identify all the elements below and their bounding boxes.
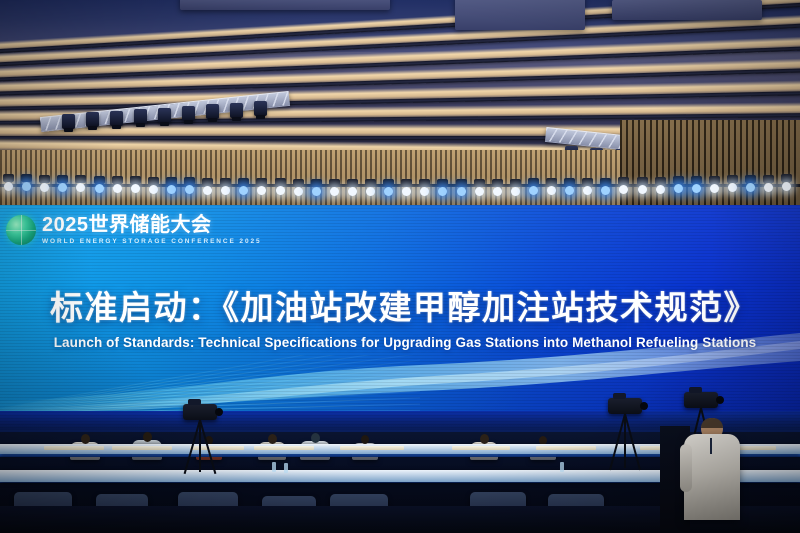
stage-light-blue [185, 185, 194, 194]
light-fixture-body [75, 175, 86, 183]
stage-light-white [619, 185, 628, 194]
audience-member-head [311, 433, 320, 443]
water-bottle [560, 462, 564, 472]
light-fixture-body [546, 178, 557, 186]
operator-shirt [684, 434, 740, 520]
stage-par-light [134, 109, 147, 124]
stage-light-blue [565, 186, 574, 195]
stage-light-white [420, 187, 429, 196]
stage-light-blue [95, 184, 104, 193]
light-fixture-body [673, 176, 684, 184]
light-fixture-body [275, 178, 286, 186]
desk-papers [340, 446, 404, 450]
light-fixture-body [655, 177, 666, 185]
light-fixture-body [3, 174, 14, 182]
desk-papers [112, 446, 172, 450]
desk-papers [44, 446, 104, 450]
operator-hair [701, 418, 723, 428]
light-fixture-body [347, 179, 358, 187]
stage-par-light [206, 104, 219, 119]
stage-light-blue [529, 186, 538, 195]
light-fixture-body [419, 179, 430, 187]
stage-light-white [583, 186, 592, 195]
audience-member-head [361, 435, 369, 444]
light-fixture-body [166, 177, 177, 185]
operator-lanyard [710, 438, 712, 454]
audience-member-head [268, 434, 277, 444]
stage-light-white [131, 184, 140, 193]
light-fixture-body [474, 179, 485, 187]
light-fixture-body [781, 174, 792, 182]
logo-title-cn: 2025世界储能大会 [42, 215, 262, 236]
stage-light-white [710, 184, 719, 193]
light-fixture-body [112, 176, 123, 184]
light-fixture-body [148, 177, 159, 185]
stage-light-white [782, 182, 791, 191]
light-fixture-body [238, 178, 249, 186]
operator-arm [680, 444, 692, 492]
light-fixture-body [202, 178, 213, 186]
stage-light-white [257, 186, 266, 195]
stage-light-blue [239, 186, 248, 195]
water-bottle [272, 462, 276, 472]
stage-light-blue [692, 184, 701, 193]
stage-light-white [76, 183, 85, 192]
light-fixture-body [727, 175, 738, 183]
stage-light-blue [674, 184, 683, 193]
stage-light-blue [438, 187, 447, 196]
stage-par-light [110, 111, 123, 126]
main-title-cn: 标准启动：《加油站改建甲醇加注站技术规范》 [50, 281, 760, 329]
light-fixture-body [383, 179, 394, 187]
video-camera [684, 392, 718, 408]
stage-light-white [475, 187, 484, 196]
light-fixture-body [220, 178, 231, 186]
stage-light-white [4, 182, 13, 191]
stage-par-light [182, 106, 195, 121]
light-fixture-body [691, 176, 702, 184]
light-fixture-body [709, 176, 720, 184]
stage-light-white [149, 185, 158, 194]
globe-icon [6, 215, 36, 245]
desk-papers [452, 446, 510, 450]
light-fixture-body [329, 179, 340, 187]
conference-hall-photo: 2025世界储能大会 WORLD ENERGY STORAGE CONFEREN… [0, 0, 800, 533]
light-fixture-body [492, 179, 503, 187]
light-fixture-body [618, 177, 629, 185]
light-fixture-body [582, 178, 593, 186]
stage-light-white [113, 184, 122, 193]
stage-light-white [348, 187, 357, 196]
light-fixture-body [600, 178, 611, 186]
light-fixture-body [456, 179, 467, 187]
light-fixture-body [365, 179, 376, 187]
desk-papers [536, 446, 596, 450]
stage-light-blue [457, 187, 466, 196]
light-fixture-body [745, 175, 756, 183]
stage-light-white [294, 187, 303, 196]
stage-light-blue [312, 187, 321, 196]
stage-light-bar [0, 168, 800, 210]
stage-light-white [547, 186, 556, 195]
stage-par-light [158, 108, 171, 123]
camera-tripod [183, 404, 219, 474]
camera-tripod [608, 398, 644, 470]
light-fixture-body [184, 177, 195, 185]
light-fixture-body [94, 176, 105, 184]
stage-light-white [402, 187, 411, 196]
light-fixture-body [564, 178, 575, 186]
stage-par-light [230, 103, 243, 118]
light-fixture-body [510, 179, 521, 187]
main-title-en: Launch of Standards: Technical Specifica… [40, 335, 770, 350]
audience-member-head [480, 434, 489, 444]
desk-papers [254, 446, 314, 450]
stage-par-light [62, 114, 75, 129]
light-fixture-body [57, 175, 68, 183]
light-fixture-body [311, 179, 322, 187]
stage-par-light [86, 112, 99, 127]
video-camera [608, 398, 642, 414]
light-fixture-body [21, 174, 32, 182]
stage-light-white [330, 187, 339, 196]
stage-light-blue [58, 183, 67, 192]
light-fixture-body [437, 179, 448, 187]
stage-par-light [254, 101, 267, 116]
stage-light-blue [384, 187, 393, 196]
audience-member-head [81, 434, 90, 444]
light-fixture-body [528, 178, 539, 186]
stage-light-white [764, 183, 773, 192]
video-camera [183, 404, 217, 420]
water-bottle [284, 463, 288, 473]
conference-logo: 2025世界储能大会 WORLD ENERGY STORAGE CONFEREN… [6, 215, 262, 245]
stage-light-blue [22, 182, 31, 191]
stage-light-blue [601, 186, 610, 195]
stage-light-white [40, 183, 49, 192]
stage-light-white [221, 186, 230, 195]
stage-light-white [203, 186, 212, 195]
stage-light-white [366, 187, 375, 196]
light-fixture-body [293, 179, 304, 187]
stage-light-white [511, 187, 520, 196]
led-screen: 2025世界储能大会 WORLD ENERGY STORAGE CONFEREN… [0, 205, 800, 437]
stage-light-white [638, 185, 647, 194]
stage-light-white [493, 187, 502, 196]
light-fixture-body [256, 178, 267, 186]
stage-light-white [276, 186, 285, 195]
light-fixture-body [637, 177, 648, 185]
audience-member-head [143, 432, 152, 442]
stage-light-white [728, 183, 737, 192]
stage-light-blue [167, 185, 176, 194]
light-fixture-body [401, 179, 412, 187]
light-fixture-body [130, 176, 141, 184]
logo-title-en: WORLD ENERGY STORAGE CONFERENCE 2025 [42, 238, 262, 245]
stage-light-white [656, 185, 665, 194]
camera-operator [684, 418, 740, 533]
light-fixture-body [763, 175, 774, 183]
light-fixture-body [39, 175, 50, 183]
stage-light-blue [746, 183, 755, 192]
